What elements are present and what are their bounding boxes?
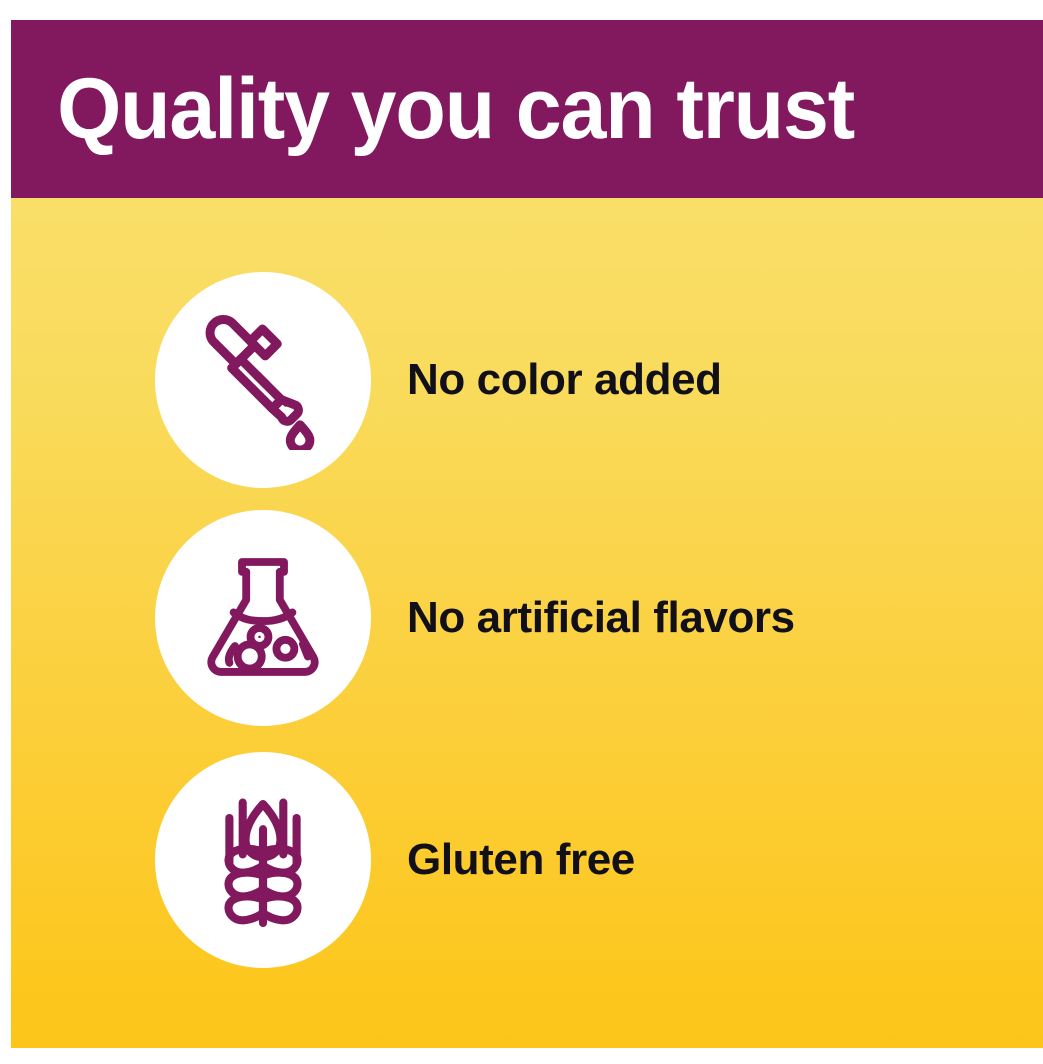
feature-item-no-color-added: No color added bbox=[11, 272, 1043, 488]
page-title: Quality you can trust bbox=[11, 66, 854, 152]
icon-badge-no-color-added bbox=[155, 272, 371, 488]
feature-item-gluten-free: Gluten free bbox=[11, 752, 1043, 968]
feature-item-no-artificial-flavors: No artificial flavors bbox=[11, 510, 1043, 726]
banner-header: Quality you can trust bbox=[11, 20, 1043, 198]
icon-badge-no-artificial-flavors bbox=[155, 510, 371, 726]
flask-icon bbox=[193, 548, 333, 688]
icon-badge-gluten-free bbox=[155, 752, 371, 968]
feature-list-panel: No color added bbox=[11, 198, 1043, 1048]
feature-label: No color added bbox=[407, 356, 722, 404]
wheat-icon bbox=[193, 790, 333, 930]
quality-you-can-trust-banner: Quality you can trust bbox=[0, 0, 1043, 1064]
feature-label: No artificial flavors bbox=[407, 594, 795, 642]
feature-label: Gluten free bbox=[407, 836, 635, 884]
dropper-icon bbox=[193, 310, 333, 450]
